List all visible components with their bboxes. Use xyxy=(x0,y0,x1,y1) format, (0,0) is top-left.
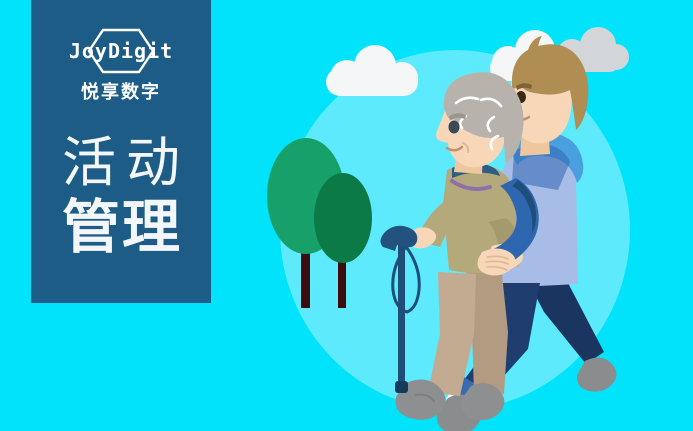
woman-eye xyxy=(449,121,460,134)
logo-mark: JoyDigit xyxy=(55,26,187,76)
page-title-line-2: 管理 xyxy=(31,198,211,256)
logo: JoyDigit 悦享数字 xyxy=(55,26,187,104)
poster-canvas: JoyDigit 悦享数字 活动 管理 xyxy=(0,0,693,431)
page-title: 活动 管理 xyxy=(31,136,211,256)
page-title-line-1: 活动 xyxy=(31,136,211,190)
brand-panel: JoyDigit 悦享数字 活动 管理 xyxy=(31,0,211,303)
logo-chinese-name: 悦享数字 xyxy=(81,78,161,104)
logo-wordmark: JoyDigit xyxy=(55,26,187,76)
